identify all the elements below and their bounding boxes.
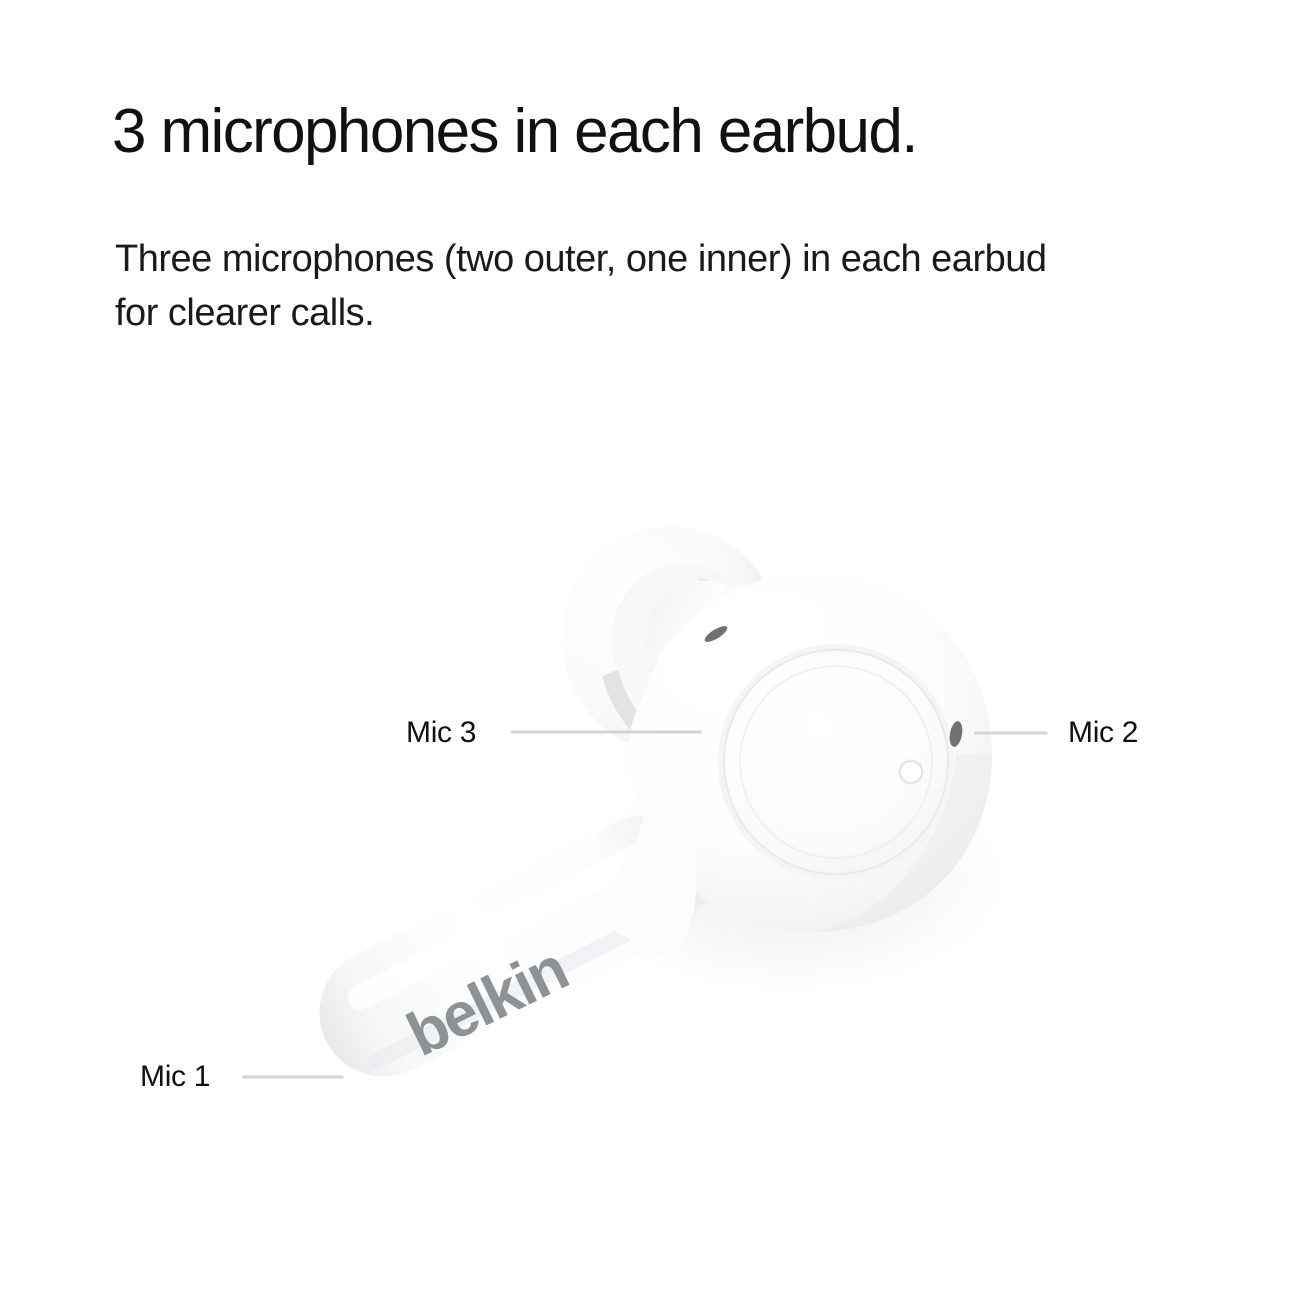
callout-label-mic-1: Mic 1 xyxy=(140,1060,210,1094)
callout-label-mic-2: Mic 2 xyxy=(1068,716,1138,750)
product-feature-panel: 3 microphones in each earbud. Three micr… xyxy=(0,0,1314,1304)
callout-label-mic-3: Mic 3 xyxy=(406,716,476,750)
status-led-icon xyxy=(898,759,924,785)
earbud-illustration: belkin xyxy=(0,0,1314,1304)
